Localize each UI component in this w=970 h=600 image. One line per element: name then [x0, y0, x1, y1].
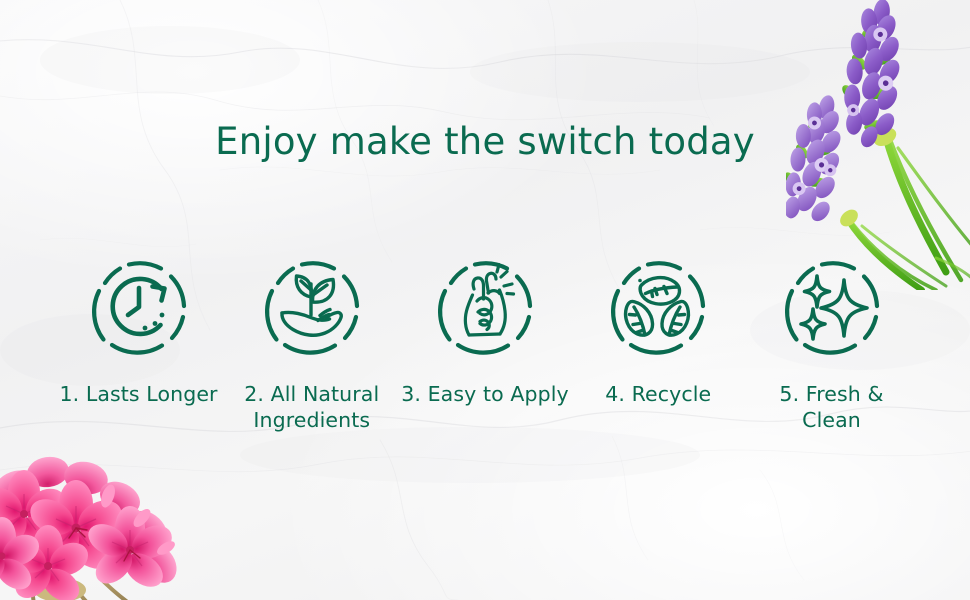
feature-item-fresh-clean: 5. Fresh & Clean	[745, 243, 918, 433]
feature-item-recycle: 4. Recycle	[572, 243, 745, 407]
badge-easy-to-apply	[422, 243, 548, 369]
badge-lasts-longer	[76, 243, 202, 369]
feature-label: 5. Fresh & Clean	[748, 381, 916, 433]
feature-label: 2. All Natural Ingredients	[228, 381, 396, 433]
leaves-recycle-icon	[595, 243, 721, 369]
clock-arrow-icon	[76, 243, 202, 369]
promo-banner: Enjoy make the switch today	[0, 0, 970, 600]
feature-label: 3. Easy to Apply	[401, 381, 569, 407]
feature-list: 1. Lasts Longer	[52, 243, 918, 433]
badge-fresh-clean	[769, 243, 895, 369]
hand-plant-icon	[249, 243, 375, 369]
snapping-fingers-icon	[422, 243, 548, 369]
feature-item-lasts-longer: 1. Lasts Longer	[52, 243, 225, 407]
feature-label: 1. Lasts Longer	[59, 381, 217, 407]
feature-item-easy-to-apply: 3. Easy to Apply	[399, 243, 572, 407]
feature-item-all-natural: 2. All Natural Ingredients	[225, 243, 398, 433]
banner-title: Enjoy make the switch today	[0, 120, 970, 163]
feature-label: 4. Recycle	[605, 381, 711, 407]
badge-all-natural	[249, 243, 375, 369]
sparkles-icon	[769, 243, 895, 369]
badge-recycle	[595, 243, 721, 369]
